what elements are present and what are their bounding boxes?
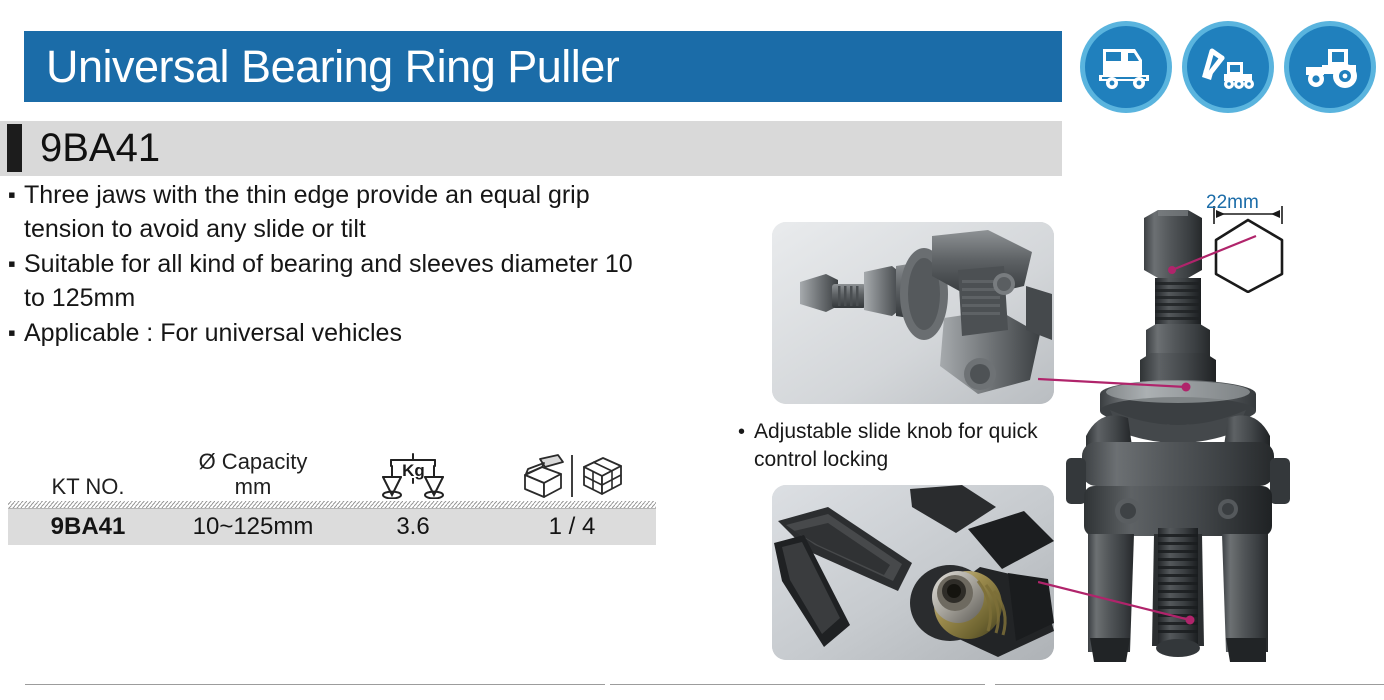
cell-weight: 3.6 <box>338 513 488 541</box>
table-row: 9BA41 10~125mm 3.6 1 / 4 <box>8 509 656 545</box>
specification-table: KT NO. Ø Capacity mm <box>8 446 656 545</box>
balance-scale-kg-icon: Kg <box>382 451 444 499</box>
footer-rule-segment-right <box>995 684 1384 685</box>
table-header-row: KT NO. Ø Capacity mm <box>8 446 656 501</box>
feature-text: Three jaws with the thin edge provide an… <box>24 178 648 246</box>
badge-truck <box>1080 21 1172 113</box>
bullet-icon: ▪ <box>8 316 24 350</box>
header-capacity: Ø Capacity mm <box>168 449 338 501</box>
callout-text: Adjustable slide knob for quick control … <box>754 418 1038 474</box>
table-divider <box>8 501 656 509</box>
page-title: Universal Bearing Ring Puller <box>46 44 619 89</box>
header-kt-no-label: KT NO. <box>52 474 125 499</box>
badge-truck-inner <box>1085 26 1167 108</box>
feature-item: ▪ Applicable : For universal vehicles <box>8 316 648 350</box>
footer-rule-segment-left <box>25 684 605 685</box>
badge-tractor-inner <box>1289 26 1371 108</box>
jaws-bearing-photo-art <box>772 485 1054 660</box>
cell-capacity: 10~125mm <box>168 513 338 541</box>
slide-knob-photo-art <box>772 222 1054 404</box>
feature-item: ▪ Three jaws with the thin edge provide … <box>8 178 648 246</box>
tractor-icon <box>1298 43 1362 91</box>
bullet-icon: • <box>738 418 754 446</box>
badge-excavator <box>1182 21 1274 113</box>
bullet-icon: ▪ <box>8 247 24 281</box>
callout-adjustable-slide-knob: • Adjustable slide knob for quick contro… <box>738 418 1038 474</box>
excavator-icon <box>1197 42 1259 92</box>
feature-list: ▪ Three jaws with the thin edge provide … <box>8 178 648 351</box>
truck-icon <box>1095 43 1157 91</box>
header-capacity-line1: Ø Capacity <box>199 449 308 474</box>
feature-item: ▪ Suitable for all kind of bearing and s… <box>8 247 648 315</box>
feature-text: Suitable for all kind of bearing and sle… <box>24 247 648 315</box>
header-weight: Kg <box>338 451 488 501</box>
header-capacity-line2: mm <box>235 474 272 499</box>
cell-kt-no: 9BA41 <box>8 513 168 541</box>
slide-knob-detail-photo <box>772 222 1054 404</box>
vehicle-category-badges <box>1080 19 1380 115</box>
badge-excavator-inner <box>1187 26 1269 108</box>
leader-line-jaws <box>1038 578 1248 628</box>
footer-rule <box>0 684 1384 686</box>
dimension-label: 22mm <box>1206 192 1259 214</box>
leader-line-hex <box>1050 232 1260 278</box>
model-number: 9BA41 <box>40 124 160 172</box>
inner-outer-carton-icon <box>518 453 626 499</box>
feature-text: Applicable : For universal vehicles <box>24 316 648 350</box>
header-packing <box>488 453 656 501</box>
jaws-and-bearing-detail-photo <box>772 485 1054 660</box>
leader-line-knob <box>1038 370 1238 400</box>
header-kt-no: KT NO. <box>8 474 168 501</box>
page-title-bar: Universal Bearing Ring Puller <box>24 31 1062 102</box>
svg-text:Kg: Kg <box>402 461 425 480</box>
cell-packing: 1 / 4 <box>488 513 656 541</box>
footer-rule-segment-middle <box>610 684 985 685</box>
model-accent-bar <box>7 124 22 172</box>
badge-tractor <box>1284 21 1376 113</box>
bullet-icon: ▪ <box>8 178 24 212</box>
